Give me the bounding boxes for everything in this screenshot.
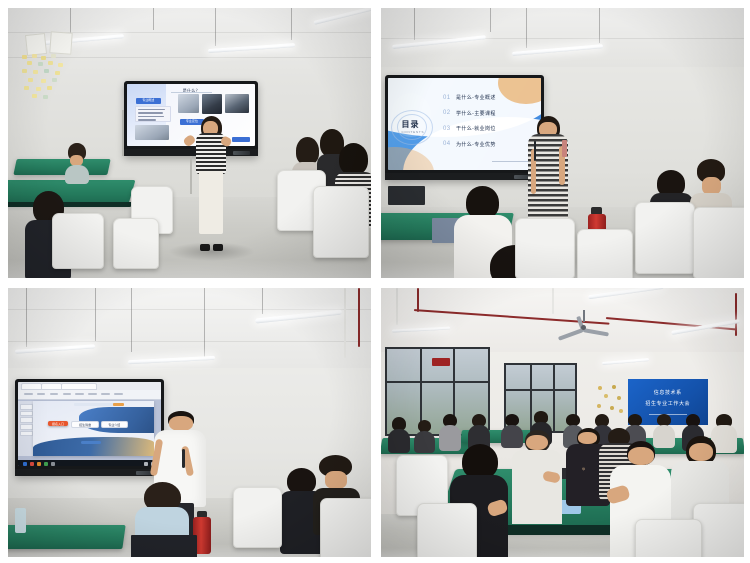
sticky-note-cluster <box>19 54 77 103</box>
chair <box>113 218 159 269</box>
agenda-number: 01 <box>443 95 456 101</box>
chair <box>52 213 105 269</box>
conduit-pipe <box>396 288 398 326</box>
microphone <box>182 449 186 469</box>
slide-content: 目录 CONTENTS 01 是什么-专业概述 02 学什么-主要课程 <box>388 78 542 170</box>
exit-sign <box>432 358 450 366</box>
slide-badge <box>113 403 124 406</box>
chair <box>635 519 702 557</box>
agenda-number: 04 <box>443 141 456 147</box>
audience-member <box>388 417 410 452</box>
laptop <box>388 186 424 213</box>
slide-heading: 目录 CONTENTS <box>401 119 424 134</box>
chair <box>313 186 369 258</box>
audience-member <box>414 420 436 452</box>
chair <box>233 487 282 548</box>
ceiling-pipe <box>417 288 419 312</box>
display-screen: 目录 CONTENTS 01 是什么-专业概述 02 学什么-主要课程 <box>388 78 542 170</box>
chair <box>635 202 695 274</box>
slide-canvas: 报名入口 招生简章 专业介绍 <box>33 401 154 456</box>
photo-bottom-left[interactable]: 报名入口 招生简章 专业介绍 <box>8 288 371 558</box>
taskbar[interactable] <box>18 460 161 466</box>
agenda-item: 02 学什么-主要课程 <box>443 110 532 117</box>
secondary-button-label: 招生简章 <box>72 422 97 428</box>
display-title-line-2: 招生专业工作大会 <box>645 400 690 407</box>
app-ribbon <box>18 390 161 400</box>
slide-pill <box>81 441 100 445</box>
agenda-text: 干什么-就业岗位 <box>456 125 496 132</box>
presenter <box>190 116 234 251</box>
mobile-phone <box>562 140 567 157</box>
wall-paper <box>49 32 72 56</box>
ceiling-pipe <box>358 288 360 347</box>
agenda-number: 02 <box>443 110 456 116</box>
laptop <box>131 535 196 557</box>
primary-action-label: 报名入口 <box>48 421 67 427</box>
display-screen: 报名入口 招生简章 专业介绍 <box>18 382 161 466</box>
chair <box>515 218 575 277</box>
microphone <box>534 141 537 161</box>
chair <box>577 229 633 278</box>
primary-action-button[interactable]: 报名入口 <box>48 421 67 427</box>
slide-tag-label: 专业概述 <box>136 98 160 103</box>
water-bottle <box>15 508 26 532</box>
photo-collage: 是什么？ 专业概述 专业定位 <box>0 0 750 563</box>
slide-badge <box>232 137 250 142</box>
agenda-item: 03 干什么-就业岗位 <box>443 125 532 132</box>
agenda-text: 学什么-主要课程 <box>456 110 496 117</box>
desktop-content: 报名入口 招生简章 专业介绍 <box>18 382 161 466</box>
participant-foreground <box>512 430 563 522</box>
agenda-item: 04 为什么-专业优势 <box>443 141 532 148</box>
ceiling-fan <box>555 320 611 336</box>
agenda-item: 01 是什么-专业概述 <box>443 94 532 101</box>
chair <box>693 207 744 277</box>
agenda-text: 为什么-专业优势 <box>456 141 496 148</box>
photo-bottom-right[interactable]: 信息技术系 招生专业工作大会 <box>381 288 744 558</box>
slide-image <box>135 125 170 140</box>
secondary-button[interactable]: 专业介绍 <box>101 421 128 429</box>
secondary-button-label: 专业介绍 <box>102 422 127 428</box>
slide-title-bar <box>74 403 115 406</box>
slide-heading-text: 目录 <box>401 120 419 129</box>
slide-text-card <box>135 106 171 122</box>
wall-paper <box>25 33 47 56</box>
secondary-button[interactable]: 招生简章 <box>71 421 98 429</box>
photo-top-right[interactable]: 目录 CONTENTS 01 是什么-专业概述 02 学什么-主要课程 <box>381 8 744 278</box>
slide-heading-sub: CONTENTS <box>401 130 424 134</box>
agenda-number: 03 <box>443 126 456 132</box>
slide-image <box>178 94 199 113</box>
photo-top-left[interactable]: 是什么？ 专业概述 专业定位 <box>8 8 371 278</box>
agenda-text: 是什么-专业概述 <box>456 94 496 101</box>
ceiling-pipe <box>344 288 346 358</box>
interactive-display-panel[interactable]: 报名入口 招生简章 专业介绍 <box>15 379 164 476</box>
interactive-display-panel[interactable]: 目录 CONTENTS 01 是什么-专业概述 02 学什么-主要课程 <box>385 75 545 180</box>
agenda-list: 01 是什么-专业概述 02 学什么-主要课程 03 干什么-就业岗位 04 <box>443 94 532 156</box>
slide-image <box>225 94 249 113</box>
conduit-pipe <box>552 288 554 315</box>
display-title-line-1: 信息技术系 <box>654 389 682 396</box>
slide-tag: 专业概述 <box>136 98 160 104</box>
chair <box>417 503 477 557</box>
chair <box>320 498 371 557</box>
slide-image <box>202 94 223 114</box>
slide-thumbnail-panel[interactable] <box>18 401 33 456</box>
audience-member <box>62 143 91 183</box>
